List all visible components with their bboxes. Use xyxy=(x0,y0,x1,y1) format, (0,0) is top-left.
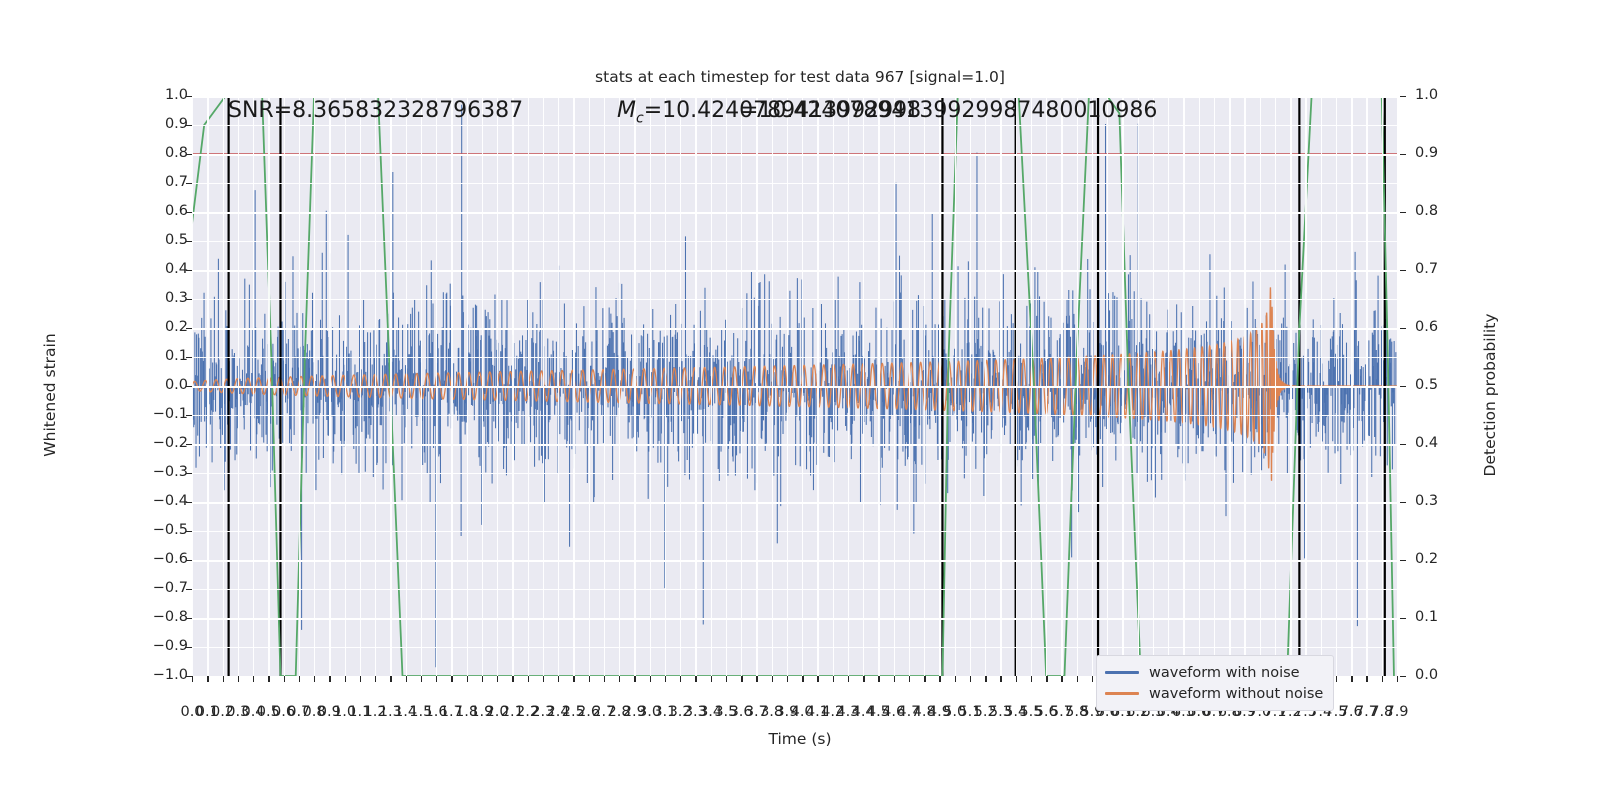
x-tick-mark xyxy=(284,676,285,682)
y-axis-left-label: Whitened strain xyxy=(41,195,59,595)
x-tick-mark xyxy=(375,676,376,682)
y-gridline xyxy=(192,647,1397,648)
x-tick-mark xyxy=(650,676,651,682)
y-tick-mark-left xyxy=(186,96,192,97)
x-tick-mark xyxy=(299,676,300,682)
x-tick-mark xyxy=(604,676,605,682)
x-tick-mark xyxy=(711,676,712,682)
x-tick-mark xyxy=(939,676,940,682)
legend-item[interactable]: waveform without noise xyxy=(1105,683,1323,704)
y-tick-label-right: 0.6 xyxy=(1415,319,1438,335)
x-tick-mark xyxy=(772,676,773,682)
y-tick-label-left: 0.8 xyxy=(165,145,188,161)
x-tick-mark xyxy=(833,676,834,682)
x-tick-mark xyxy=(1016,676,1017,682)
y-tick-mark-right xyxy=(1400,618,1406,619)
x-tick-mark xyxy=(1046,676,1047,682)
x-tick-mark xyxy=(909,676,910,682)
x-tick-mark xyxy=(726,676,727,682)
gw-detection-figure: stats at each timestep for test data 967… xyxy=(0,0,1600,800)
y-tick-mark-left xyxy=(186,299,192,300)
y-gridline xyxy=(192,589,1397,590)
snr-annotation: SNR=8.365832328796387 xyxy=(228,100,523,122)
x-tick-mark xyxy=(924,676,925,682)
legend-swatch-icon xyxy=(1105,671,1139,674)
legend-item[interactable]: waveform with noise xyxy=(1105,662,1323,683)
y-tick-mark-left xyxy=(186,154,192,155)
y-tick-mark-left xyxy=(186,270,192,271)
x-tick-mark xyxy=(695,676,696,682)
y-tick-mark-right xyxy=(1400,560,1406,561)
x-tick-mark xyxy=(406,676,407,682)
x-tick-mark xyxy=(741,676,742,682)
x-tick-mark xyxy=(268,676,269,682)
x-tick-mark xyxy=(1366,676,1367,682)
x-tick-mark xyxy=(756,676,757,682)
y-tick-mark-left xyxy=(186,502,192,503)
y-tick-label-left: 0.9 xyxy=(165,116,188,132)
x-tick-mark xyxy=(207,676,208,682)
page-title: stats at each timestep for test data 967… xyxy=(0,68,1600,86)
y-gridline-secondary xyxy=(192,618,1397,620)
x-tick-mark xyxy=(1382,676,1383,682)
x-tick-mark xyxy=(985,676,986,682)
y-tick-label-right: 0.0 xyxy=(1415,667,1438,683)
y-tick-label-left: −1.0 xyxy=(153,667,188,683)
y-tick-label-right: 1.0 xyxy=(1415,87,1438,103)
y-tick-mark-left xyxy=(186,444,192,445)
chirp-mass-annotation-overlap: =10.42407894139929987480010986 xyxy=(740,100,1157,122)
y-tick-mark-left xyxy=(186,647,192,648)
x-tick-mark xyxy=(878,676,879,682)
x-tick-mark xyxy=(894,676,895,682)
legend-item-label: waveform with noise xyxy=(1149,665,1300,681)
x-tick-mark xyxy=(1000,676,1001,682)
y-axis-right-label: Detection probability xyxy=(1481,195,1499,595)
x-tick-mark xyxy=(1061,676,1062,682)
y-tick-label-left: −0.8 xyxy=(153,609,188,625)
legend-item-label: waveform without noise xyxy=(1149,686,1323,702)
x-tick-mark xyxy=(558,676,559,682)
y-tick-mark-left xyxy=(186,357,192,358)
x-tick-mark xyxy=(345,676,346,682)
x-tick-mark xyxy=(543,676,544,682)
x-tick-mark xyxy=(802,676,803,682)
y-gridline xyxy=(192,183,1397,184)
y-gridline xyxy=(192,531,1397,532)
y-tick-mark-right xyxy=(1400,502,1406,503)
y-tick-label-right: 0.5 xyxy=(1415,377,1438,393)
y-gridline-secondary xyxy=(192,444,1397,446)
y-tick-label-left: 0.7 xyxy=(165,174,188,190)
x-tick-mark xyxy=(528,676,529,682)
y-tick-mark-left xyxy=(186,241,192,242)
y-gridline-secondary xyxy=(192,386,1397,388)
y-tick-label-left: 0.0 xyxy=(165,377,188,393)
x-tick-mark xyxy=(619,676,620,682)
y-tick-label-left: −0.7 xyxy=(153,580,188,596)
y-tick-label-left: 0.1 xyxy=(165,348,188,364)
y-tick-mark-left xyxy=(186,473,192,474)
x-tick-mark xyxy=(817,676,818,682)
y-tick-mark-right xyxy=(1400,96,1406,97)
chirp-mass-symbol: Mc xyxy=(617,98,644,123)
y-tick-label-left: 0.4 xyxy=(165,261,188,277)
x-tick-mark xyxy=(451,676,452,682)
x-tick-mark xyxy=(634,676,635,682)
y-tick-label-left: −0.5 xyxy=(153,522,188,538)
y-tick-mark-left xyxy=(186,618,192,619)
y-gridline-secondary xyxy=(192,212,1397,214)
x-tick-mark xyxy=(482,676,483,682)
y-tick-label-left: 1.0 xyxy=(165,87,188,103)
y-tick-mark-left xyxy=(186,328,192,329)
y-gridline-secondary xyxy=(192,270,1397,272)
y-tick-label-right: 0.1 xyxy=(1415,609,1438,625)
y-tick-label-left: −0.2 xyxy=(153,435,188,451)
y-tick-label-left: −0.6 xyxy=(153,551,188,567)
x-tick-mark xyxy=(360,676,361,682)
y-tick-mark-left xyxy=(186,212,192,213)
x-tick-mark xyxy=(1336,676,1337,682)
x-tick-mark xyxy=(329,676,330,682)
y-tick-label-left: 0.3 xyxy=(165,290,188,306)
x-tick-mark xyxy=(1077,676,1078,682)
y-tick-mark-right xyxy=(1400,676,1406,677)
plot-area xyxy=(192,96,1397,676)
x-tick-mark xyxy=(467,676,468,682)
y-tick-label-left: 0.6 xyxy=(165,203,188,219)
x-tick-mark xyxy=(390,676,391,682)
y-tick-label-left: 0.2 xyxy=(165,319,188,335)
y-tick-mark-right xyxy=(1400,212,1406,213)
x-tick-mark xyxy=(680,676,681,682)
x-tick-mark xyxy=(436,676,437,682)
y-tick-mark-right xyxy=(1400,328,1406,329)
x-tick-mark xyxy=(1397,676,1398,682)
y-tick-mark-left xyxy=(186,183,192,184)
y-tick-mark-left xyxy=(186,560,192,561)
y-gridline xyxy=(192,473,1397,474)
y-tick-label-right: 0.9 xyxy=(1415,145,1438,161)
x-tick-mark xyxy=(421,676,422,682)
x-tick-mark xyxy=(573,676,574,682)
x-tick-mark xyxy=(192,676,193,682)
y-gridline-secondary xyxy=(192,560,1397,562)
y-tick-label-right: 0.2 xyxy=(1415,551,1438,567)
y-tick-label-right: 0.7 xyxy=(1415,261,1438,277)
x-tick-label: 7.9 xyxy=(1385,704,1408,720)
x-tick-mark xyxy=(223,676,224,682)
y-tick-label-left: −0.9 xyxy=(153,638,188,654)
y-tick-mark-left xyxy=(186,589,192,590)
y-tick-label-right: 0.8 xyxy=(1415,203,1438,219)
y-tick-label-left: −0.1 xyxy=(153,406,188,422)
x-tick-mark xyxy=(238,676,239,682)
x-tick-mark xyxy=(512,676,513,682)
y-tick-mark-right xyxy=(1400,270,1406,271)
y-tick-mark-left xyxy=(186,531,192,532)
x-tick-mark xyxy=(1351,676,1352,682)
y-gridline-secondary xyxy=(192,328,1397,330)
y-gridline-secondary xyxy=(192,154,1397,156)
legend-swatch-icon xyxy=(1105,692,1139,695)
y-gridline xyxy=(192,415,1397,416)
y-tick-label-right: 0.3 xyxy=(1415,493,1438,509)
y-tick-mark-left xyxy=(186,125,192,126)
y-tick-mark-right xyxy=(1400,444,1406,445)
x-tick-mark xyxy=(253,676,254,682)
x-tick-mark xyxy=(970,676,971,682)
x-tick-mark xyxy=(665,676,666,682)
x-tick-mark xyxy=(497,676,498,682)
x-tick-mark xyxy=(787,676,788,682)
y-gridline xyxy=(192,241,1397,242)
y-tick-mark-left xyxy=(186,386,192,387)
y-tick-label-left: −0.3 xyxy=(153,464,188,480)
x-tick-mark xyxy=(955,676,956,682)
y-tick-mark-left xyxy=(186,415,192,416)
y-tick-label-right: 0.4 xyxy=(1415,435,1438,451)
y-tick-mark-right xyxy=(1400,154,1406,155)
x-axis-label: Time (s) xyxy=(0,730,1600,748)
y-tick-label-left: −0.4 xyxy=(153,493,188,509)
x-tick-mark xyxy=(863,676,864,682)
y-tick-label-left: 0.5 xyxy=(165,232,188,248)
y-gridline-secondary xyxy=(192,502,1397,504)
y-gridline xyxy=(192,299,1397,300)
x-tick-mark xyxy=(1031,676,1032,682)
x-tick-mark xyxy=(848,676,849,682)
x-tick-mark xyxy=(589,676,590,682)
legend[interactable]: waveform with noisewaveform without nois… xyxy=(1096,655,1334,711)
x-tick-mark xyxy=(314,676,315,682)
y-tick-mark-right xyxy=(1400,386,1406,387)
y-gridline xyxy=(192,357,1397,358)
x-tick-mark xyxy=(1092,676,1093,682)
